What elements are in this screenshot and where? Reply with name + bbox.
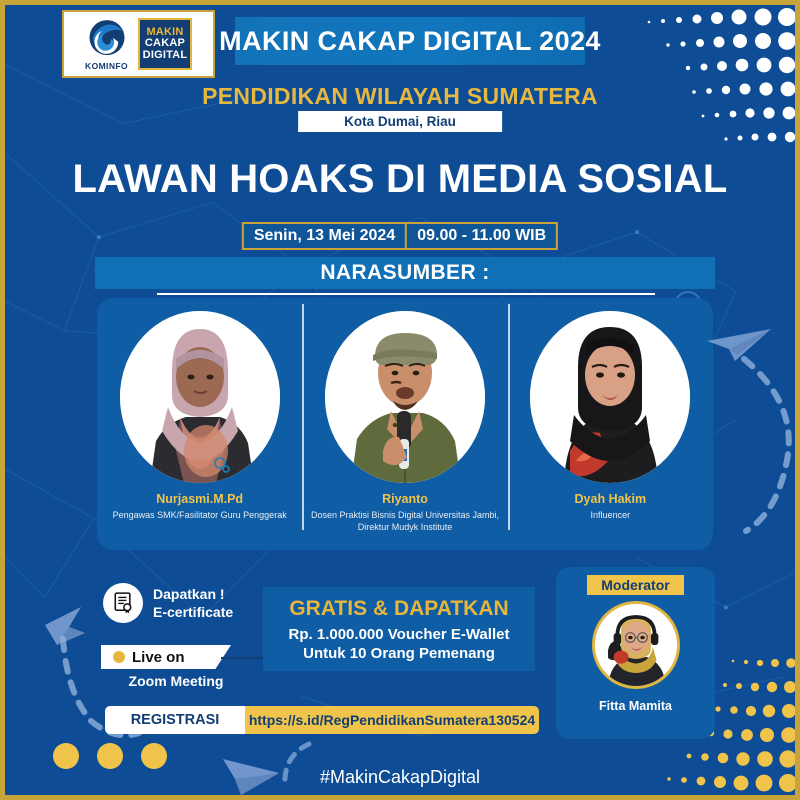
speakers-divider	[157, 293, 655, 295]
yellow-dot	[141, 743, 167, 769]
kominfo-wordmark: KOMINFO	[85, 61, 128, 71]
promo-box: GRATIS & DAPATKAN Rp. 1.000.000 Voucher …	[263, 587, 535, 671]
paper-plane-icon-right	[705, 325, 775, 365]
promo-line-3: Untuk 10 Orang Pemenang	[303, 645, 495, 662]
live-on-rule	[221, 657, 269, 659]
live-on-badge: Live on	[101, 645, 231, 669]
mcd-line-3: DIGITAL	[143, 50, 188, 62]
speaker-card: Nurjasmi.M.Pd Pengawas SMK/Fasilitator G…	[97, 298, 302, 550]
speaker-role: Pengawas SMK/Fasilitator Guru Penggerak	[113, 510, 287, 522]
makin-cakap-digital-logo: MAKIN CAKAP DIGITAL	[138, 18, 192, 70]
certificate-icon	[103, 583, 143, 623]
event-title: MAKIN CAKAP DIGITAL 2024	[219, 26, 601, 57]
speaker-card: Dyah Hakim Influencer	[508, 298, 713, 550]
moderator-photo	[595, 604, 677, 686]
moderator-card: Moderator Fitta Mam	[556, 567, 715, 739]
avatar	[530, 311, 690, 483]
paper-plane-icon-left	[41, 603, 101, 649]
live-platform: Zoom Meeting	[101, 673, 251, 689]
speaker-photo-2	[325, 311, 485, 483]
certificate-line-1: Dapatkan !	[153, 585, 233, 603]
speakers-panel: Nurjasmi.M.Pd Pengawas SMK/Fasilitator G…	[97, 298, 713, 550]
yellow-dot	[53, 743, 79, 769]
promo-line-2: Rp. 1.000.000 Voucher E-Wallet	[289, 626, 510, 643]
speaker-photo-1	[120, 311, 280, 483]
certificate-text: Dapatkan ! E-certificate	[153, 585, 233, 621]
speakers-heading: NARASUMBER :	[320, 261, 489, 285]
dashed-path-right	[740, 355, 800, 545]
live-dot-icon	[113, 651, 125, 663]
yellow-dots-decoration	[53, 743, 167, 769]
moderator-chip: Moderator	[587, 575, 683, 595]
avatar	[325, 311, 485, 483]
kominfo-globe-icon	[86, 18, 128, 60]
registration-label: REGISTRASI	[105, 706, 245, 734]
registration-link[interactable]: https://s.id/RegPendidikanSumatera130524	[245, 706, 539, 734]
poster-root: KOMINFO MAKIN CAKAP DIGITAL MAKIN CAKAP …	[0, 0, 800, 800]
registration-bar[interactable]: REGISTRASI https://s.id/RegPendidikanSum…	[105, 706, 539, 734]
speaker-name: Nurjasmi.M.Pd	[156, 492, 243, 506]
event-title-bar: MAKIN CAKAP DIGITAL 2024	[235, 17, 585, 65]
certificate-line-2: E-certificate	[153, 603, 233, 621]
event-subtitle: PENDIDIKAN WILAYAH SUMATERA	[5, 83, 795, 110]
moderator-name: Fitta Mamita	[599, 699, 672, 713]
kominfo-logo: KOMINFO	[85, 18, 128, 71]
speaker-name: Dyah Hakim	[575, 492, 647, 506]
event-date: Senin, 13 Mei 2024	[244, 224, 405, 248]
certificate-info: Dapatkan ! E-certificate	[103, 583, 233, 623]
halftone-dots-top-right	[605, 5, 795, 155]
event-time: 09.00 - 11.00 WIB	[407, 224, 556, 248]
city-chip: Kota Dumai, Riau	[298, 111, 502, 132]
speaker-role: Dosen Praktisi Bisnis Digital Universita…	[306, 510, 503, 534]
page-title: LAWAN HOAKS DI MEDIA SOSIAL	[5, 157, 795, 202]
yellow-dot	[97, 743, 123, 769]
promo-line-1: GRATIS & DAPATKAN	[289, 597, 508, 621]
speaker-role: Influencer	[591, 510, 631, 522]
live-on-label: Live on	[132, 649, 185, 666]
speaker-name: Riyanto	[382, 492, 428, 506]
avatar	[592, 601, 680, 689]
speaker-card: Riyanto Dosen Praktisi Bisnis Digital Un…	[302, 298, 507, 550]
speakers-heading-bar: NARASUMBER :	[95, 257, 715, 289]
speaker-photo-3	[530, 311, 690, 483]
datetime-chip: Senin, 13 Mei 2024 09.00 - 11.00 WIB	[242, 222, 558, 250]
logo-lockup: KOMINFO MAKIN CAKAP DIGITAL	[62, 10, 215, 78]
footer-hashtag: #MakinCakapDigital	[5, 767, 795, 788]
avatar	[120, 311, 280, 483]
